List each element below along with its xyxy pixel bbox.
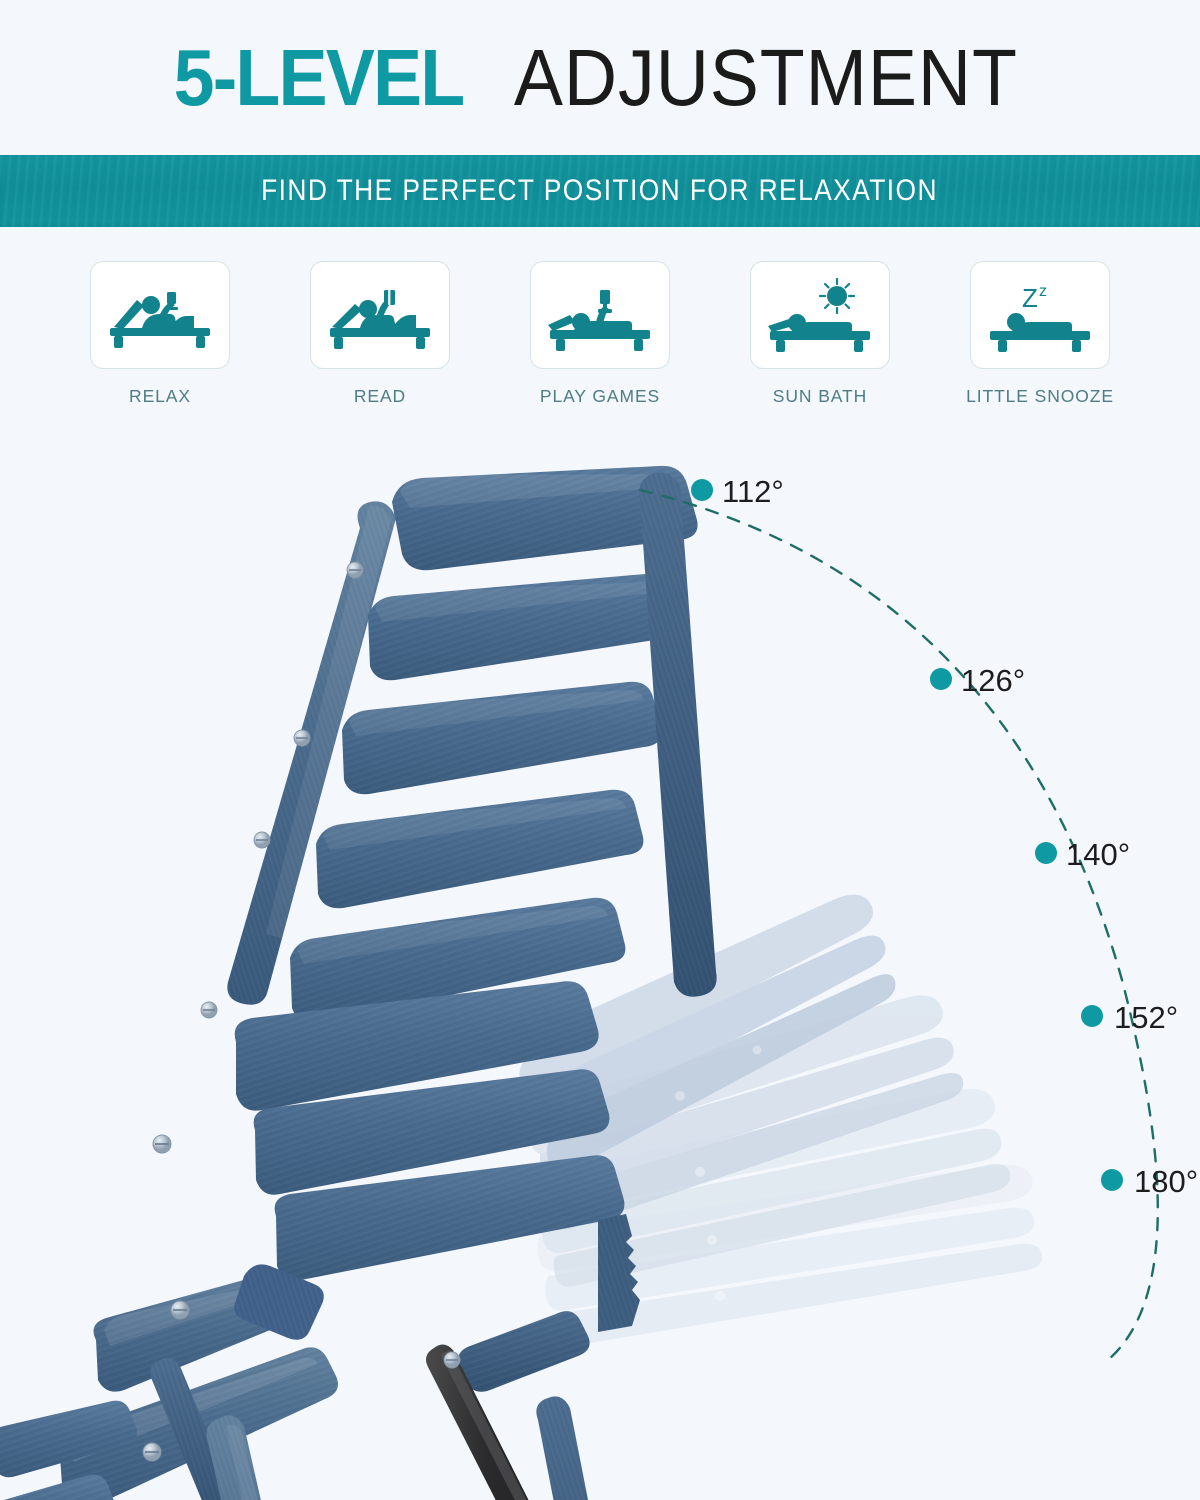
angle-dot-112 (691, 479, 713, 501)
far-leg (536, 1396, 629, 1500)
front-leg (207, 1415, 338, 1500)
mode-icon-box-little-snooze: Z z (970, 261, 1110, 369)
subtitle-text: FIND THE PERFECT POSITION FOR RELAXATION (262, 174, 939, 208)
right-armrest (458, 1311, 589, 1392)
mode-card-sun-bath: SUN BATH (741, 261, 899, 407)
svg-text:z: z (1039, 283, 1047, 300)
angle-label-112: 112° (722, 474, 784, 509)
title-accent-text: 5-LEVEL (173, 38, 463, 118)
subtitle-banner: FIND THE PERFECT POSITION FOR RELAXATION (0, 155, 1200, 227)
person-sleeping-zzz-icon: Z z (984, 277, 1096, 353)
angle-dot-126 (930, 668, 952, 690)
mode-card-play-games: PLAY GAMES (521, 261, 679, 407)
person-lying-flat-with-sun-icon (764, 277, 876, 353)
mode-icon-box-relax (90, 261, 230, 369)
angle-label-180: 180° (1134, 1164, 1198, 1199)
mode-icon-box-read (310, 261, 450, 369)
mode-label-little-snooze: LITTLE SNOOZE (966, 386, 1114, 407)
mode-card-relax: RELAX (81, 261, 239, 407)
angle-dot-140 (1035, 842, 1057, 864)
angle-dot-152 (1081, 1005, 1103, 1027)
svg-text:Z: Z (1022, 283, 1038, 313)
product-illustration: 112° 126° 140° 152° 180° (0, 430, 1200, 1500)
mode-card-read: READ (301, 261, 459, 407)
mode-card-little-snooze: Z z LITTLE SNOOZE (961, 261, 1119, 407)
mode-label-play-games: PLAY GAMES (540, 386, 660, 407)
angle-label-140: 140° (1066, 837, 1130, 872)
person-with-device-icon (544, 278, 656, 352)
mode-label-read: READ (354, 386, 406, 407)
backrest-slats (290, 466, 698, 1022)
title-main-text: ADJUSTMENT (513, 38, 1017, 118)
angle-label-152: 152° (1114, 1000, 1178, 1035)
angle-label-126: 126° (961, 663, 1025, 698)
mode-label-sun-bath: SUN BATH (773, 386, 867, 407)
mode-icon-box-sun-bath (750, 261, 890, 369)
usage-mode-list: RELAX READ (0, 227, 1200, 407)
mode-label-relax: RELAX (129, 386, 191, 407)
page-title: 5-LEVEL ADJUSTMENT (0, 0, 1200, 155)
person-reading-book-icon (324, 278, 436, 352)
mode-icon-box-play-games (530, 261, 670, 369)
angle-dot-180 (1101, 1169, 1123, 1191)
person-reclining-with-drink-icon (104, 278, 216, 352)
chaise-lounge-chair (0, 466, 717, 1500)
